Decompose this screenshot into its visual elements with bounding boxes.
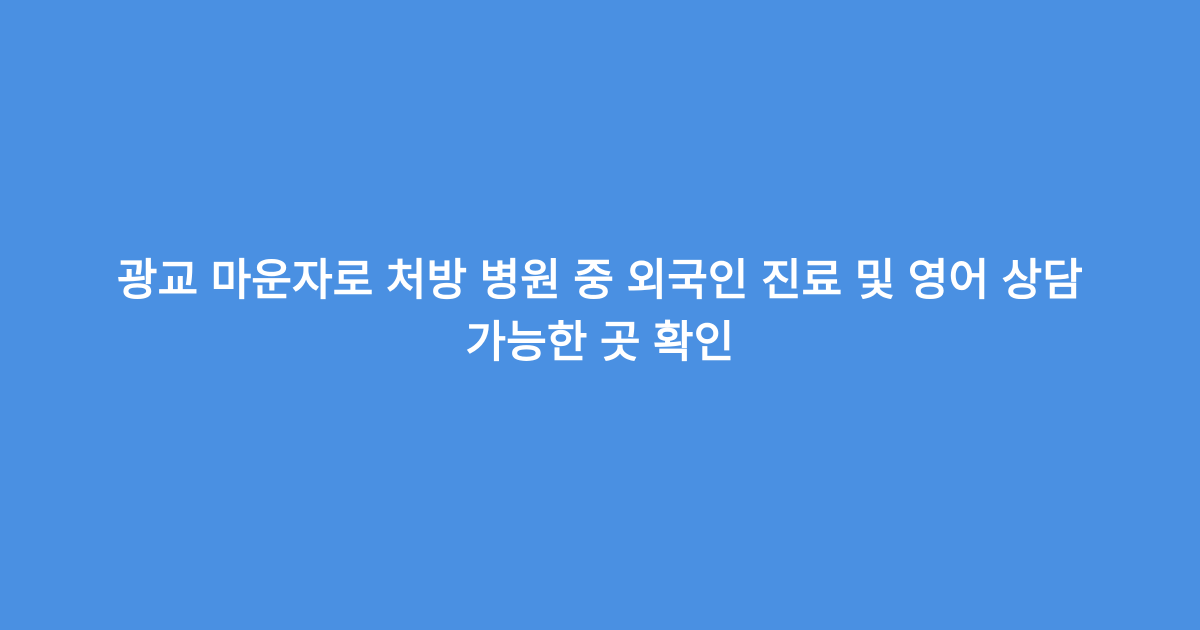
og-card: 광교 마운자로 처방 병원 중 외국인 진료 및 영어 상담 가능한 곳 확인	[0, 0, 1200, 630]
page-title: 광교 마운자로 처방 병원 중 외국인 진료 및 영어 상담 가능한 곳 확인	[70, 250, 1130, 374]
headline-block: 광교 마운자로 처방 병원 중 외국인 진료 및 영어 상담 가능한 곳 확인	[70, 250, 1130, 374]
